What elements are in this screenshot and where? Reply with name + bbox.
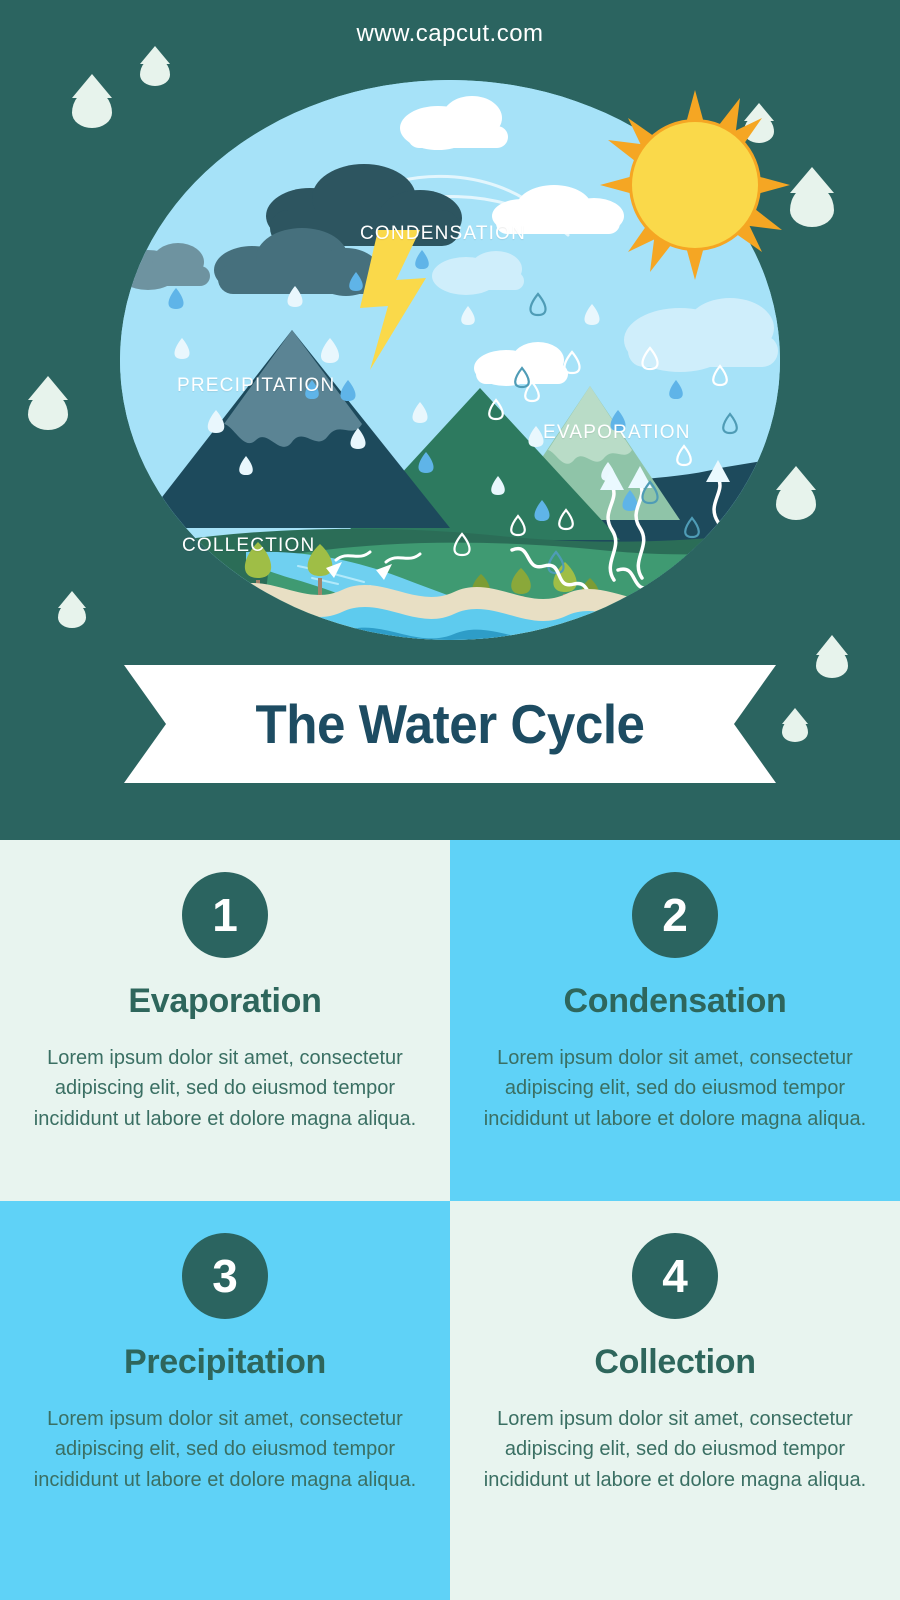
cloud-pale-large-icon [624,298,778,372]
step-card-condensation: 2 Condensation Lorem ipsum dolor sit ame… [450,840,900,1201]
step-card-collection: 4 Collection Lorem ipsum dolor sit amet,… [450,1201,900,1600]
title-banner: The Water Cycle [124,665,776,783]
diagram-label-evaporation: EVAPORATION [543,422,691,444]
step-title: Precipitation [124,1343,326,1382]
hero-section: www.capcut.com [0,0,900,840]
background-droplet-icon [72,90,112,128]
step-description: Lorem ipsum dolor sit amet, consectetur … [30,1404,420,1495]
background-droplet-icon [776,482,816,520]
cloud-pale-icon [432,251,524,295]
background-droplet-icon [782,718,808,742]
water-cycle-diagram: CONDENSATION PRECIPITATION EVAPORATION C… [120,80,780,640]
step-title: Collection [594,1343,755,1382]
step-description: Lorem ipsum dolor sit amet, consectetur … [480,1404,870,1495]
step-number-badge: 3 [182,1233,268,1319]
background-droplet-icon [28,392,68,430]
step-number-badge: 4 [632,1233,718,1319]
step-number-badge: 2 [632,872,718,958]
sun-icon [600,90,790,280]
steps-grid: 1 Evaporation Lorem ipsum dolor sit amet… [0,840,900,1600]
diagram-label-precipitation: PRECIPITATION [177,375,335,397]
sun-core [632,122,758,248]
step-description: Lorem ipsum dolor sit amet, consectetur … [30,1043,420,1134]
background-droplet-icon [58,602,86,628]
step-number-badge: 1 [182,872,268,958]
diagram-label-condensation: CONDENSATION [360,223,526,245]
background-droplet-icon [816,648,848,678]
cloud-white-mid-icon [474,342,568,386]
page-title: The Water Cycle [147,665,753,783]
lightning-bolt-icon [360,230,426,370]
step-description: Lorem ipsum dolor sit amet, consectetur … [480,1043,870,1134]
infographic-page: www.capcut.com [0,0,900,1600]
cloud-grey-small-icon [120,243,210,290]
step-title: Evaporation [128,982,321,1021]
site-url-label: www.capcut.com [0,20,900,48]
step-card-evaporation: 1 Evaporation Lorem ipsum dolor sit amet… [0,840,450,1201]
diagram-label-collection: COLLECTION [182,535,315,557]
cloud-white-icon [400,96,508,150]
step-card-precipitation: 3 Precipitation Lorem ipsum dolor sit am… [0,1201,450,1600]
step-title: Condensation [563,982,786,1021]
background-droplet-icon [790,185,834,227]
